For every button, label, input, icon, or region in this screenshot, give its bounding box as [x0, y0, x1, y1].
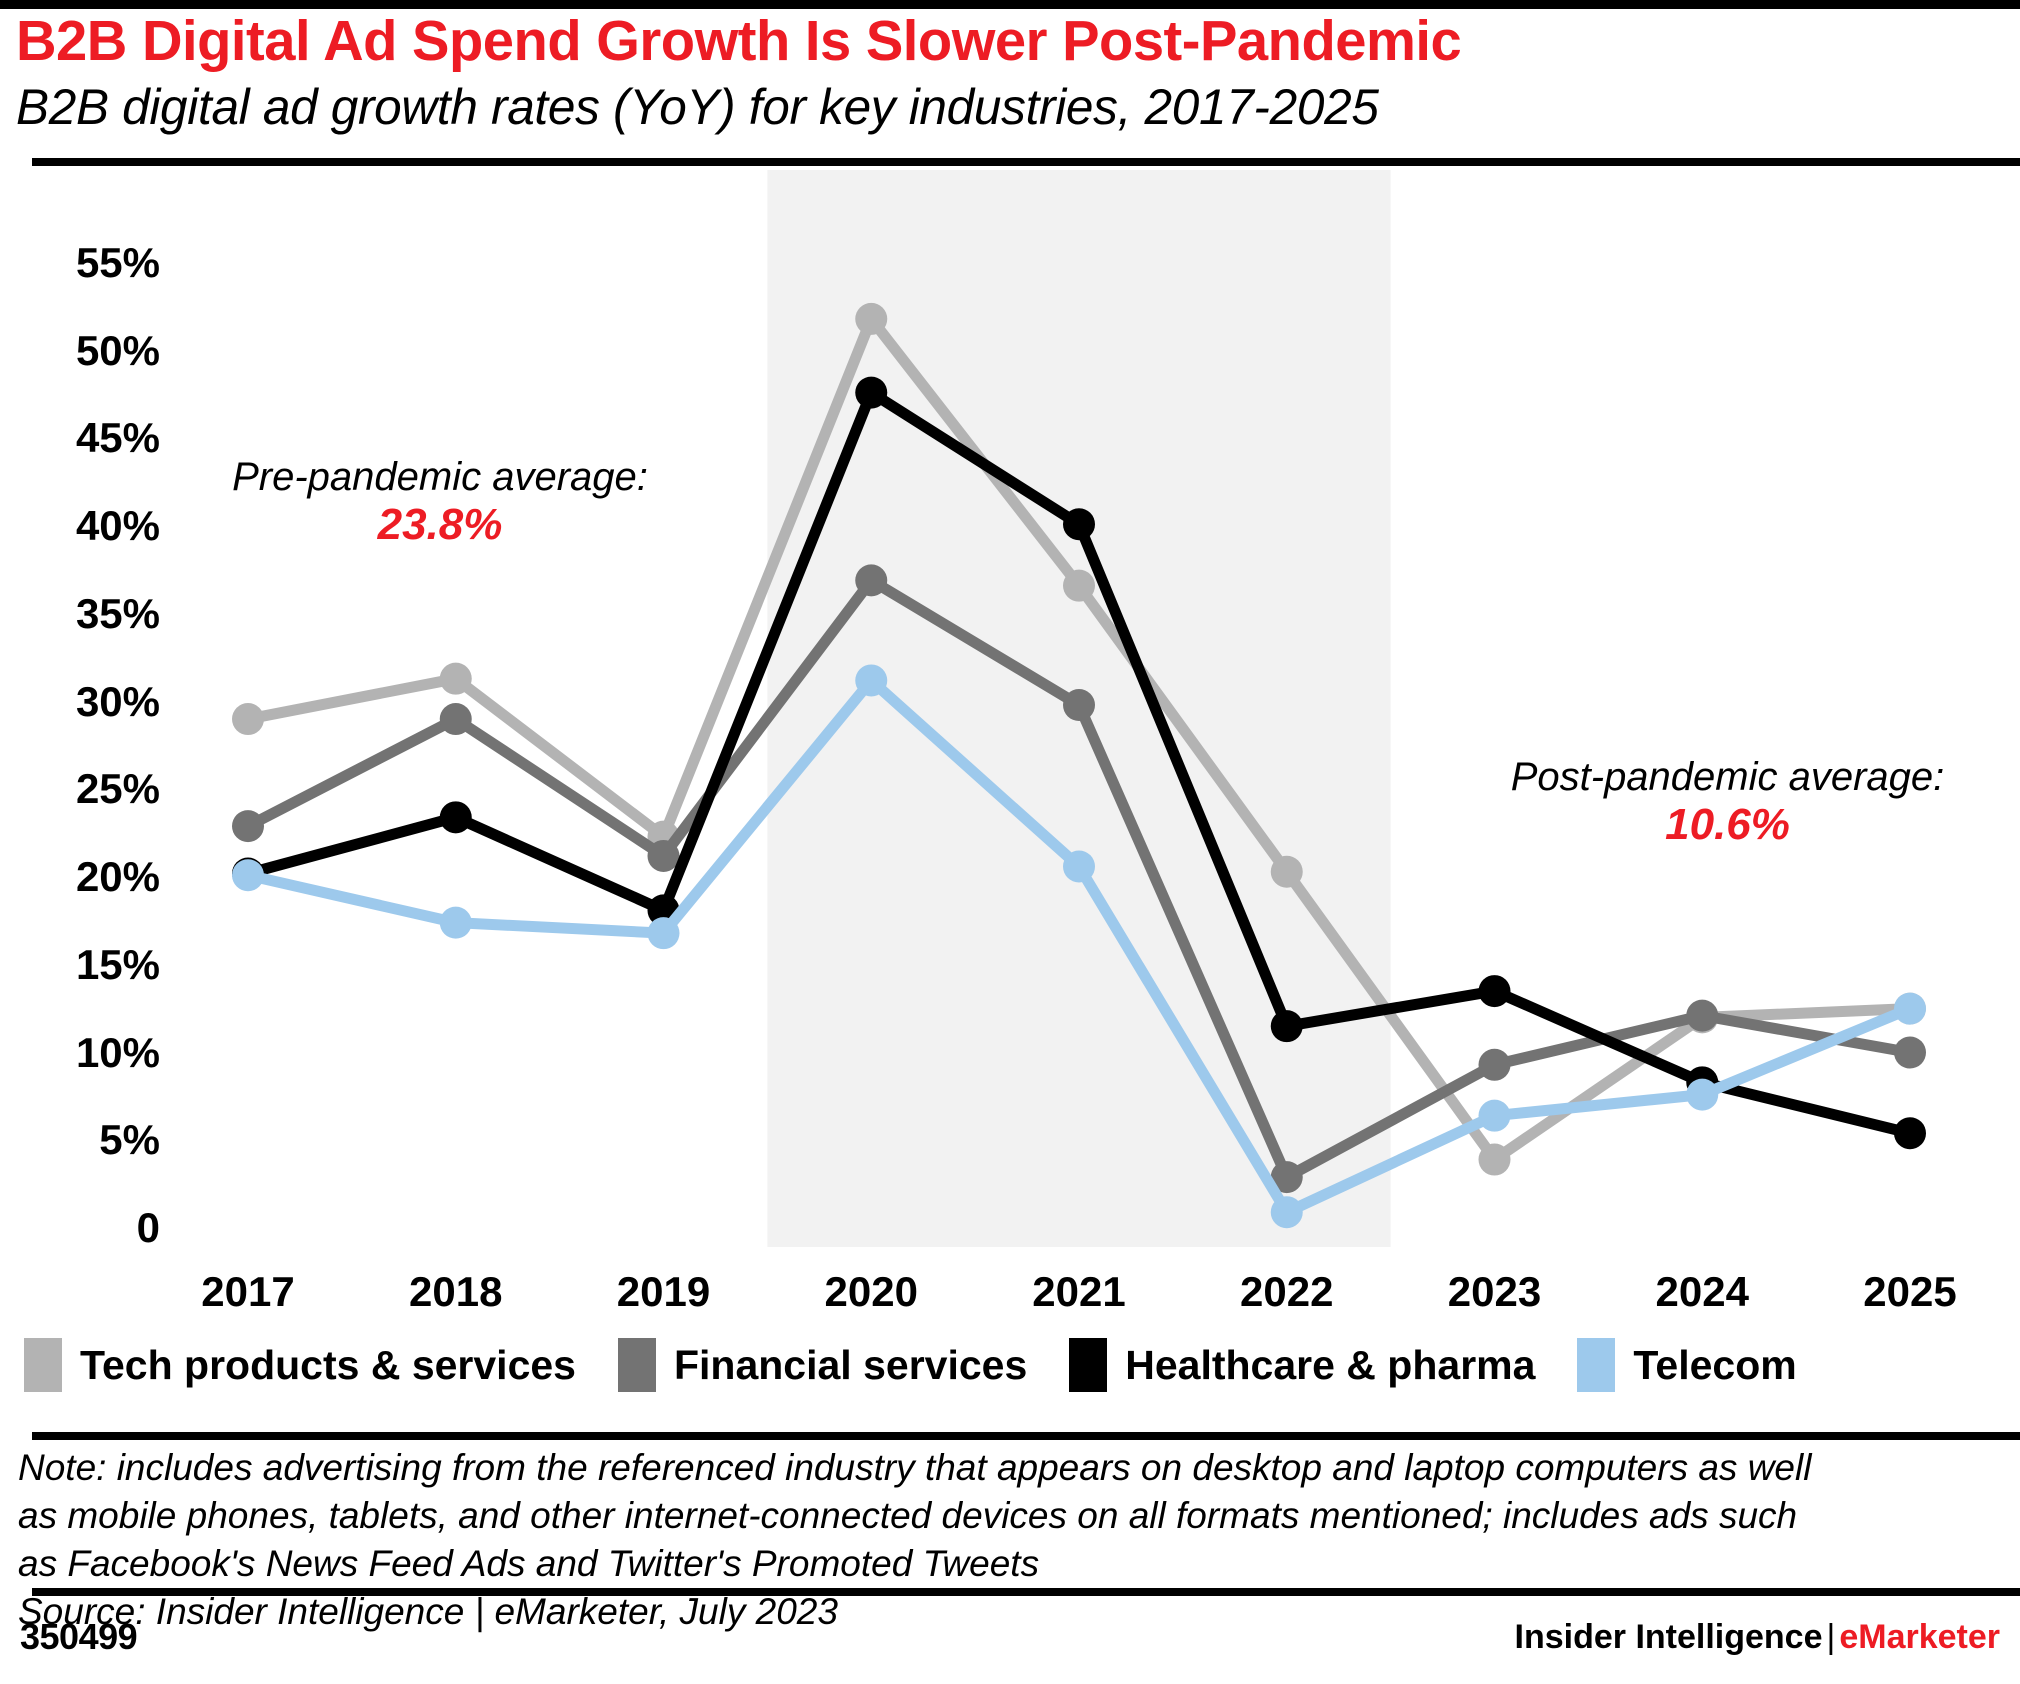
legend-swatch-icon: [618, 1338, 656, 1392]
page-title: B2B Digital Ad Spend Growth Is Slower Po…: [16, 8, 1976, 74]
data-point: [1479, 1100, 1511, 1132]
data-point: [1271, 1196, 1303, 1228]
legend-label: Telecom: [1633, 1342, 1796, 1389]
x-axis-tick-label: 2017: [201, 1268, 294, 1316]
chart-legend: Tech products & servicesFinancial servic…: [24, 1338, 1839, 1392]
legend-swatch-icon: [1577, 1338, 1615, 1392]
legend-item[interactable]: Telecom: [1577, 1338, 1796, 1392]
data-point: [1063, 689, 1095, 721]
chart-container: 55%50%45%40%35%30%25%20%15%10%5%0 201720…: [0, 170, 2020, 1270]
data-point: [855, 377, 887, 409]
data-point: [1063, 850, 1095, 882]
x-axis-tick-label: 2023: [1448, 1268, 1541, 1316]
post-pandemic-value: 10.6%: [1455, 800, 2000, 849]
data-point: [232, 703, 264, 735]
page-subtitle: B2B digital ad growth rates (YoY) for ke…: [16, 78, 1986, 136]
x-axis-tick-label: 2024: [1656, 1268, 1749, 1316]
data-point: [1686, 1079, 1718, 1111]
data-point: [855, 664, 887, 696]
data-point: [648, 917, 680, 949]
data-point: [1894, 1037, 1926, 1069]
legend-swatch-icon: [1069, 1338, 1107, 1392]
legend-label: Financial services: [674, 1342, 1027, 1389]
x-axis-tick-label: 2025: [1863, 1268, 1956, 1316]
y-axis-labels: 55%50%45%40%35%30%25%20%15%10%5%0: [20, 170, 160, 1270]
x-axis-tick-label: 2022: [1240, 1268, 1333, 1316]
legend-label: Tech products & services: [80, 1342, 576, 1389]
chart-id: 350499: [20, 1616, 137, 1658]
header-divider: [32, 158, 2020, 166]
brand-name: Insider Intelligence: [1515, 1618, 1823, 1656]
line-plot: 55%50%45%40%35%30%25%20%15%10%5%0 201720…: [0, 170, 2020, 1270]
x-axis-tick-label: 2019: [617, 1268, 710, 1316]
y-axis-tick-label: 0: [20, 1204, 160, 1252]
note-divider: [32, 1432, 2020, 1440]
x-axis-tick-label: 2021: [1032, 1268, 1125, 1316]
pre-pandemic-value: 23.8%: [190, 500, 690, 549]
y-axis-tick-label: 45%: [20, 414, 160, 462]
data-point: [1063, 570, 1095, 602]
y-axis-tick-label: 50%: [20, 327, 160, 375]
y-axis-tick-label: 30%: [20, 678, 160, 726]
data-point: [1063, 508, 1095, 540]
data-point: [440, 703, 472, 735]
y-axis-tick-label: 25%: [20, 765, 160, 813]
data-point: [1479, 1144, 1511, 1176]
chart-svg: [0, 170, 2020, 1270]
x-axis-tick-label: 2020: [825, 1268, 918, 1316]
y-axis-tick-label: 40%: [20, 502, 160, 550]
y-axis-tick-label: 35%: [20, 590, 160, 638]
legend-swatch-icon: [24, 1338, 62, 1392]
data-point: [1479, 1049, 1511, 1081]
y-axis-tick-label: 10%: [20, 1029, 160, 1077]
y-axis-tick-label: 5%: [20, 1116, 160, 1164]
post-pandemic-label: Post-pandemic average:: [1455, 755, 2000, 800]
brand-accent: eMarketer: [1839, 1618, 2000, 1656]
chart-page: B2B Digital Ad Spend Growth Is Slower Po…: [0, 0, 2020, 1684]
note-line-3: as Facebook's News Feed Ads and Twitter'…: [18, 1540, 1998, 1588]
data-point: [232, 810, 264, 842]
data-point: [1271, 856, 1303, 888]
y-axis-tick-label: 20%: [20, 853, 160, 901]
note-line-2: as mobile phones, tablets, and other int…: [18, 1492, 1998, 1540]
brand-logo: Insider Intelligence|eMarketer: [1515, 1618, 2000, 1657]
data-point: [855, 303, 887, 335]
data-point: [440, 907, 472, 939]
legend-item[interactable]: Healthcare & pharma: [1069, 1338, 1535, 1392]
legend-label: Healthcare & pharma: [1125, 1342, 1535, 1389]
x-axis-tick-label: 2018: [409, 1268, 502, 1316]
data-point: [1686, 1000, 1718, 1032]
legend-item[interactable]: Financial services: [618, 1338, 1027, 1392]
data-point: [855, 564, 887, 596]
data-point: [1271, 1010, 1303, 1042]
brand-separator: |: [1823, 1618, 1840, 1656]
note-line-1: Note: includes advertising from the refe…: [18, 1444, 1998, 1492]
data-point: [1894, 993, 1926, 1025]
data-point: [1479, 975, 1511, 1007]
chart-note: Note: includes advertising from the refe…: [18, 1444, 1998, 1636]
data-point: [440, 801, 472, 833]
data-point: [440, 663, 472, 695]
pre-pandemic-annotation: Pre-pandemic average: 23.8%: [190, 455, 690, 549]
pre-pandemic-label: Pre-pandemic average:: [190, 455, 690, 500]
data-point: [1894, 1117, 1926, 1149]
post-pandemic-annotation: Post-pandemic average: 10.6%: [1455, 755, 2000, 849]
y-axis-tick-label: 55%: [20, 239, 160, 287]
data-point: [232, 859, 264, 891]
y-axis-tick-label: 15%: [20, 941, 160, 989]
footer-divider: [32, 1588, 2020, 1596]
data-point: [648, 840, 680, 872]
legend-item[interactable]: Tech products & services: [24, 1338, 576, 1392]
